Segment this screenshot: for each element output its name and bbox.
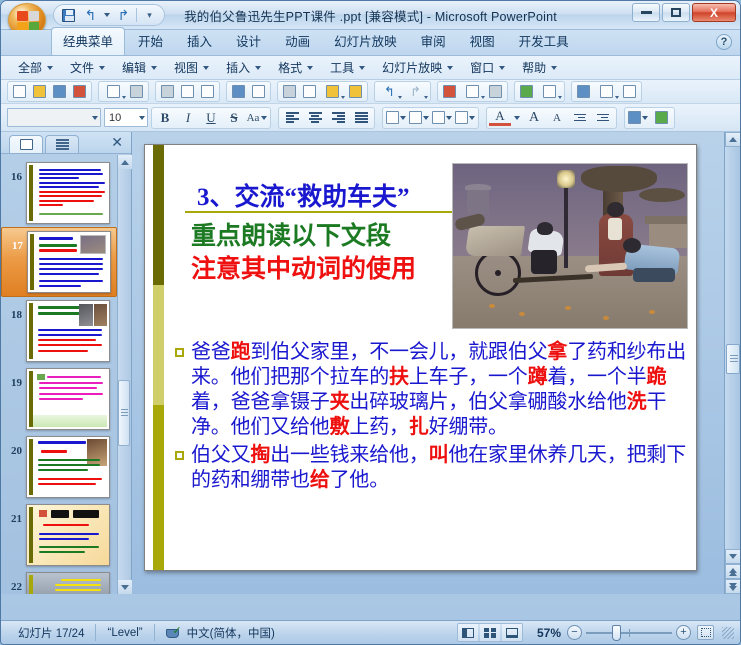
chevron-down-icon [447,66,453,70]
character-spacing-button[interactable] [408,108,430,128]
help-icon[interactable]: ? [716,34,732,50]
slide-panel-tabs: ✕ [1,132,131,154]
tab-developer[interactable]: 开发工具 [508,27,580,55]
bullet-square-icon [175,451,184,460]
align-center-button[interactable] [304,108,326,128]
page-setup-icon[interactable] [198,83,217,101]
font-name-input[interactable] [7,108,101,127]
menu-tools[interactable]: 工具 [321,56,373,79]
list-item[interactable]: 伯父又掏出一些钱来给他，叫他在家里休养几天，把剩下的药和绷带也给了他。 [175,443,688,493]
redo-icon[interactable]: ↱ [403,83,428,101]
theme-name[interactable]: “Level” [96,624,154,641]
slide-layout-icon[interactable] [537,83,562,101]
scroll-bottom-buttons [725,549,741,594]
chevron-down-icon [359,66,365,70]
slide-accent-bar-top [153,145,164,285]
work-area: ✕ 16 [1,132,740,594]
menu-view[interactable]: 视图 [165,56,217,79]
insert-tool-group [437,81,508,102]
zoom-out-button[interactable]: − [567,625,582,640]
email-icon[interactable] [101,83,126,101]
chevron-down-icon[interactable] [139,116,145,120]
classic-menu-bar: 全部 文件 编辑 视图 插入 格式 工具 幻灯片放映 窗口 帮助 [1,56,740,80]
slide-design-icon[interactable] [574,83,593,101]
window-title: 我的伯父鲁迅先生PPT课件 .ppt [兼容模式] - Microsoft Po… [1,6,740,25]
thumbnail-number: 20 [5,436,22,457]
list-item[interactable]: 18 [1,297,117,365]
paste-icon[interactable] [320,83,345,101]
thumbnail-image[interactable] [27,231,111,293]
zoom-track[interactable] [586,632,672,634]
print-tool-group [155,81,220,102]
outline-view-icon[interactable] [594,83,619,101]
thumbnail-list[interactable]: 16 [1,155,117,594]
format-painter-icon[interactable] [346,83,365,101]
standard-toolbar: ↰ ↱ [1,80,740,104]
justify-button[interactable] [350,108,372,128]
send-tool-group [98,81,149,102]
slide-scrollbar[interactable] [724,132,740,594]
scroll-up-button[interactable] [118,155,132,169]
zoom-level: 57% [529,626,561,640]
thumbnail-image[interactable] [26,436,110,498]
slide-accent-bar-middle [153,285,164,405]
font-color-button[interactable]: A [489,109,511,126]
spelling-check-icon[interactable] [229,83,248,101]
slide-body[interactable]: 爸爸跑到伯父家里，不一会儿，就跟伯父拿了药和纱布出来。他们把那个拉车的扶上车子，… [175,340,688,496]
list-item[interactable]: 16 [1,159,117,227]
tab-classic-menu[interactable]: 经典菜单 [51,27,125,55]
file-tool-group [7,81,92,102]
spell-check-icon[interactable] [166,626,181,639]
chevron-down-icon [255,66,261,70]
tab-design[interactable]: 设计 [225,27,272,55]
thumbnail-image[interactable] [26,300,110,362]
chevron-down-icon [47,66,53,70]
copy-icon[interactable] [300,83,319,101]
menu-file[interactable]: 文件 [61,56,113,79]
tab-insert[interactable]: 插入 [176,27,223,55]
resize-grip[interactable] [722,627,734,639]
formatting-toolbar: 10 B I U S Aa A A A [1,104,740,132]
window-controls: X [632,3,736,22]
thumbnail-number: 22 [5,572,22,593]
bullet-square-icon [175,348,184,357]
menu-edit[interactable]: 编辑 [113,56,165,79]
view-buttons [457,623,523,642]
outline-tab[interactable] [45,135,79,153]
slide-subtitle-red[interactable]: 注意其中动词的使用 [191,249,416,285]
bold-button[interactable]: B [154,108,176,128]
thumbnail-number: 16 [5,162,22,183]
undo-icon[interactable]: ↰ [377,83,402,101]
close-button[interactable]: X [692,3,736,22]
text-style-group: B I U S Aa [151,107,271,129]
bullet-text-2: 伯父又掏出一些钱来给他，叫他在家里休养几天，把剩下的药和绷带也给了他。 [191,443,688,493]
align-right-button[interactable] [327,108,349,128]
list-item[interactable]: 21 [1,501,117,569]
font-size-input[interactable]: 10 [104,108,148,127]
research-icon[interactable] [249,83,268,101]
list-item[interactable]: 爸爸跑到伯父家里，不一会儿，就跟伯父拿了药和纱布出来。他们把那个拉车的扶上车子，… [175,340,688,440]
print-preview-icon[interactable] [178,83,197,101]
slide-stage: 3、交流“救助车夫” 重点朗读以下文段 注意其中动词的使用 [132,132,740,594]
slide-accent-bar-bottom [153,405,164,571]
thumbnail-number: 19 [5,368,22,389]
tab-view[interactable]: 视图 [459,27,506,55]
thumbnail-image[interactable] [26,368,110,430]
next-slide-button[interactable] [725,579,741,594]
text-box-icon[interactable] [620,83,639,101]
thumbnail-number: 17 [6,231,23,252]
new-slide-button[interactable] [650,108,672,128]
zoom-in-button[interactable]: + [676,625,691,640]
clipboard-tool-group [277,81,368,102]
slide-sorter-view-button[interactable] [480,624,500,641]
menu-format[interactable]: 格式 [269,56,321,79]
chevron-down-icon [203,66,209,70]
slide-tool-group [514,81,565,102]
menu-slideshow[interactable]: 幻灯片放映 [373,56,461,79]
previous-slide-button[interactable] [725,564,741,579]
alignment-group [278,107,375,129]
shadow-button[interactable]: S [223,108,245,128]
normal-view-button[interactable] [458,624,478,641]
insert-hyperlink-icon[interactable] [486,83,505,101]
title-bar: ↰ ↱ ▾ 我的伯父鲁迅先生PPT课件 .ppt [兼容模式] - Micros… [1,1,740,30]
scrollbar-thumb[interactable] [118,380,130,446]
thumbnail-number: 18 [5,300,22,321]
chevron-down-icon [307,66,313,70]
proofing-tool-group [226,81,271,102]
list-item[interactable]: 17 [1,227,117,297]
outline-icon [56,139,69,150]
menu-window[interactable]: 窗口 [461,56,513,79]
attach-icon[interactable] [127,83,146,101]
thumbnail-scrollbar[interactable] [117,155,131,594]
tab-home[interactable]: 开始 [127,27,174,55]
increase-indent-button[interactable] [592,108,614,128]
cut-icon[interactable] [280,83,299,101]
ribbon-tab-bar: 经典菜单 开始 插入 设计 动画 幻灯片放映 审阅 视图 开发工具 ? [1,30,740,56]
tab-slideshow[interactable]: 幻灯片放映 [323,27,408,55]
list-item[interactable]: 20 [1,433,117,501]
zoom-tick [629,629,630,637]
slide-thumbnail-panel: ✕ 16 [1,132,132,594]
scroll-down-button[interactable] [118,580,132,594]
powerpoint-window: ↰ ↱ ▾ 我的伯父鲁迅先生PPT课件 .ppt [兼容模式] - Micros… [0,0,741,645]
change-case-button[interactable]: Aa [246,108,268,128]
current-slide[interactable]: 3、交流“救助车夫” 重点朗读以下文段 注意其中动词的使用 [144,144,697,571]
thumbnail-image[interactable] [26,504,110,566]
status-right-group: 57% − + [457,623,734,642]
save-icon[interactable] [50,83,69,101]
open-folder-icon[interactable] [30,83,49,101]
tab-animation[interactable]: 动画 [274,27,321,55]
scrollbar-thumb[interactable] [726,344,740,374]
italic-button[interactable]: I [177,108,199,128]
chevron-down-icon[interactable] [92,116,98,120]
print-icon[interactable] [158,83,177,101]
slide-counter: 幻灯片 17/24 [7,624,96,641]
thumbnail-image[interactable] [26,162,110,224]
new-slide-icon[interactable] [517,83,536,101]
minimize-button[interactable] [632,3,660,22]
decrease-indent-button[interactable] [569,108,591,128]
rickshaw-rescue-illustration[interactable] [452,163,688,329]
new-file-icon[interactable] [10,83,29,101]
language-indicator[interactable]: 中文(简体，中国) [155,624,286,641]
design-tool-group [571,81,642,102]
numbered-list-button[interactable] [431,108,453,128]
bullet-text-1: 爸爸跑到伯父家里，不一会儿，就跟伯父拿了药和纱布出来。他们把那个拉车的扶上车子，… [191,340,688,440]
status-bar: 幻灯片 17/24 “Level” 中文(简体，中国) 57% − + [1,620,740,644]
paragraph-group [382,107,479,129]
scroll-down-button[interactable] [725,549,741,564]
maximize-button[interactable] [662,3,690,22]
thumbnail-image[interactable] [26,572,110,594]
slide-icon [20,139,33,150]
list-item[interactable]: 19 [1,365,117,433]
insert-chart-icon[interactable] [440,83,459,101]
menu-insert[interactable]: 插入 [217,56,269,79]
slide-show-view-button[interactable] [502,624,522,641]
scroll-up-button[interactable] [725,132,741,147]
chevron-down-icon [151,66,157,70]
menu-help[interactable]: 帮助 [513,56,565,79]
tab-review[interactable]: 审阅 [410,27,457,55]
history-tool-group: ↰ ↱ [374,81,431,102]
list-item[interactable]: 22 [1,569,117,594]
insert-table-icon[interactable] [460,83,485,101]
align-left-button[interactable] [281,108,303,128]
decrease-font-size-button[interactable]: A [546,108,568,128]
design-button[interactable] [627,108,649,128]
zoom-slider[interactable]: − + [567,625,691,640]
slide-subtitle-green[interactable]: 重点朗读以下文段 [191,216,391,252]
chevron-down-icon [551,66,557,70]
chevron-down-icon [499,66,505,70]
font-color-group: A A A [486,107,617,129]
bulleted-list-button[interactable] [454,108,476,128]
font-color-dropdown-icon[interactable] [514,116,520,120]
line-spacing-button[interactable] [385,108,407,128]
thumbnail-number: 21 [5,504,22,525]
slides-tab[interactable] [9,135,43,153]
zoom-handle[interactable] [612,625,621,641]
chevron-down-icon [99,66,105,70]
fit-slide-to-window-button[interactable] [697,625,714,640]
increase-font-size-button[interactable]: A [523,108,545,128]
save-as-icon[interactable] [70,83,89,101]
close-panel-icon[interactable]: ✕ [111,134,123,151]
underline-button[interactable]: U [200,108,222,128]
menu-all[interactable]: 全部 [9,56,61,79]
slide-design-group [624,107,675,129]
